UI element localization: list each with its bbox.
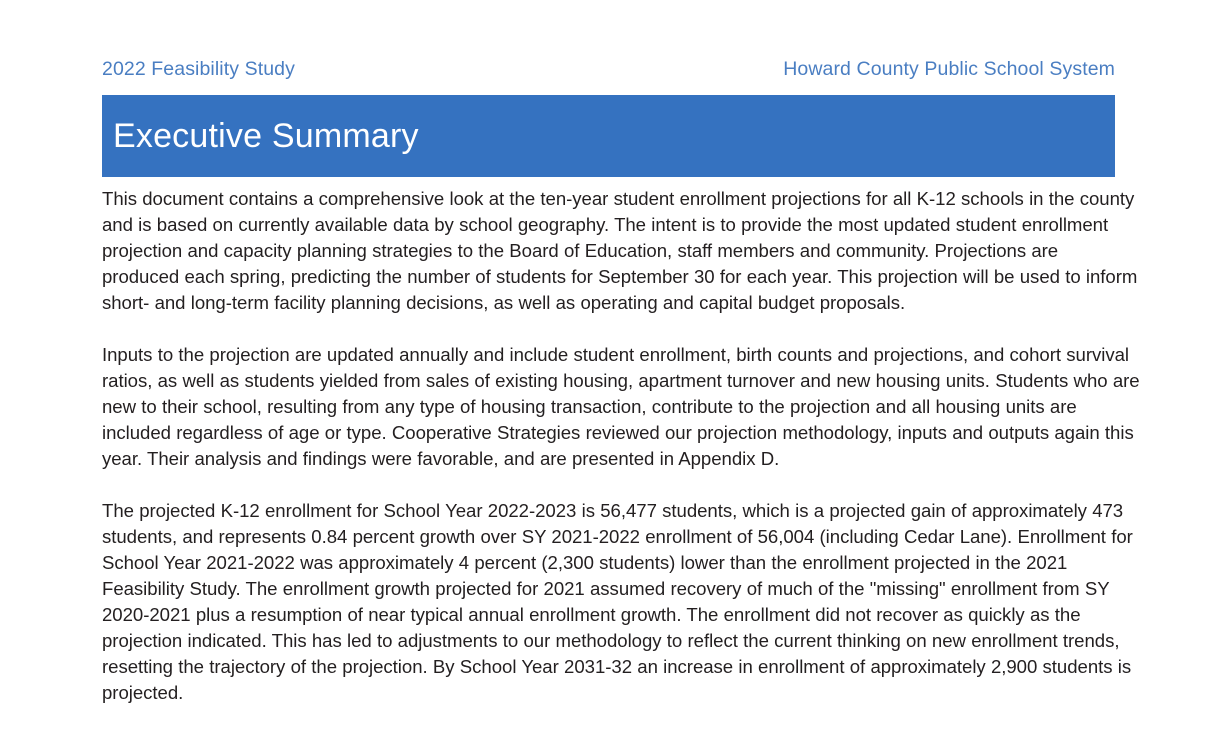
header-study-title: 2022 Feasibility Study	[102, 56, 295, 82]
section-title-band: Executive Summary	[102, 95, 1115, 177]
running-header: 2022 Feasibility Study Howard County Pub…	[102, 56, 1115, 82]
paragraph: This document contains a comprehensive l…	[102, 186, 1140, 316]
document-page: 2022 Feasibility Study Howard County Pub…	[0, 0, 1217, 750]
body-content: This document contains a comprehensive l…	[102, 186, 1140, 706]
header-organization-name: Howard County Public School System	[783, 56, 1115, 82]
paragraph: The projected K-12 enrollment for School…	[102, 498, 1140, 706]
paragraph: Inputs to the projection are updated ann…	[102, 342, 1140, 472]
section-title: Executive Summary	[113, 116, 419, 156]
